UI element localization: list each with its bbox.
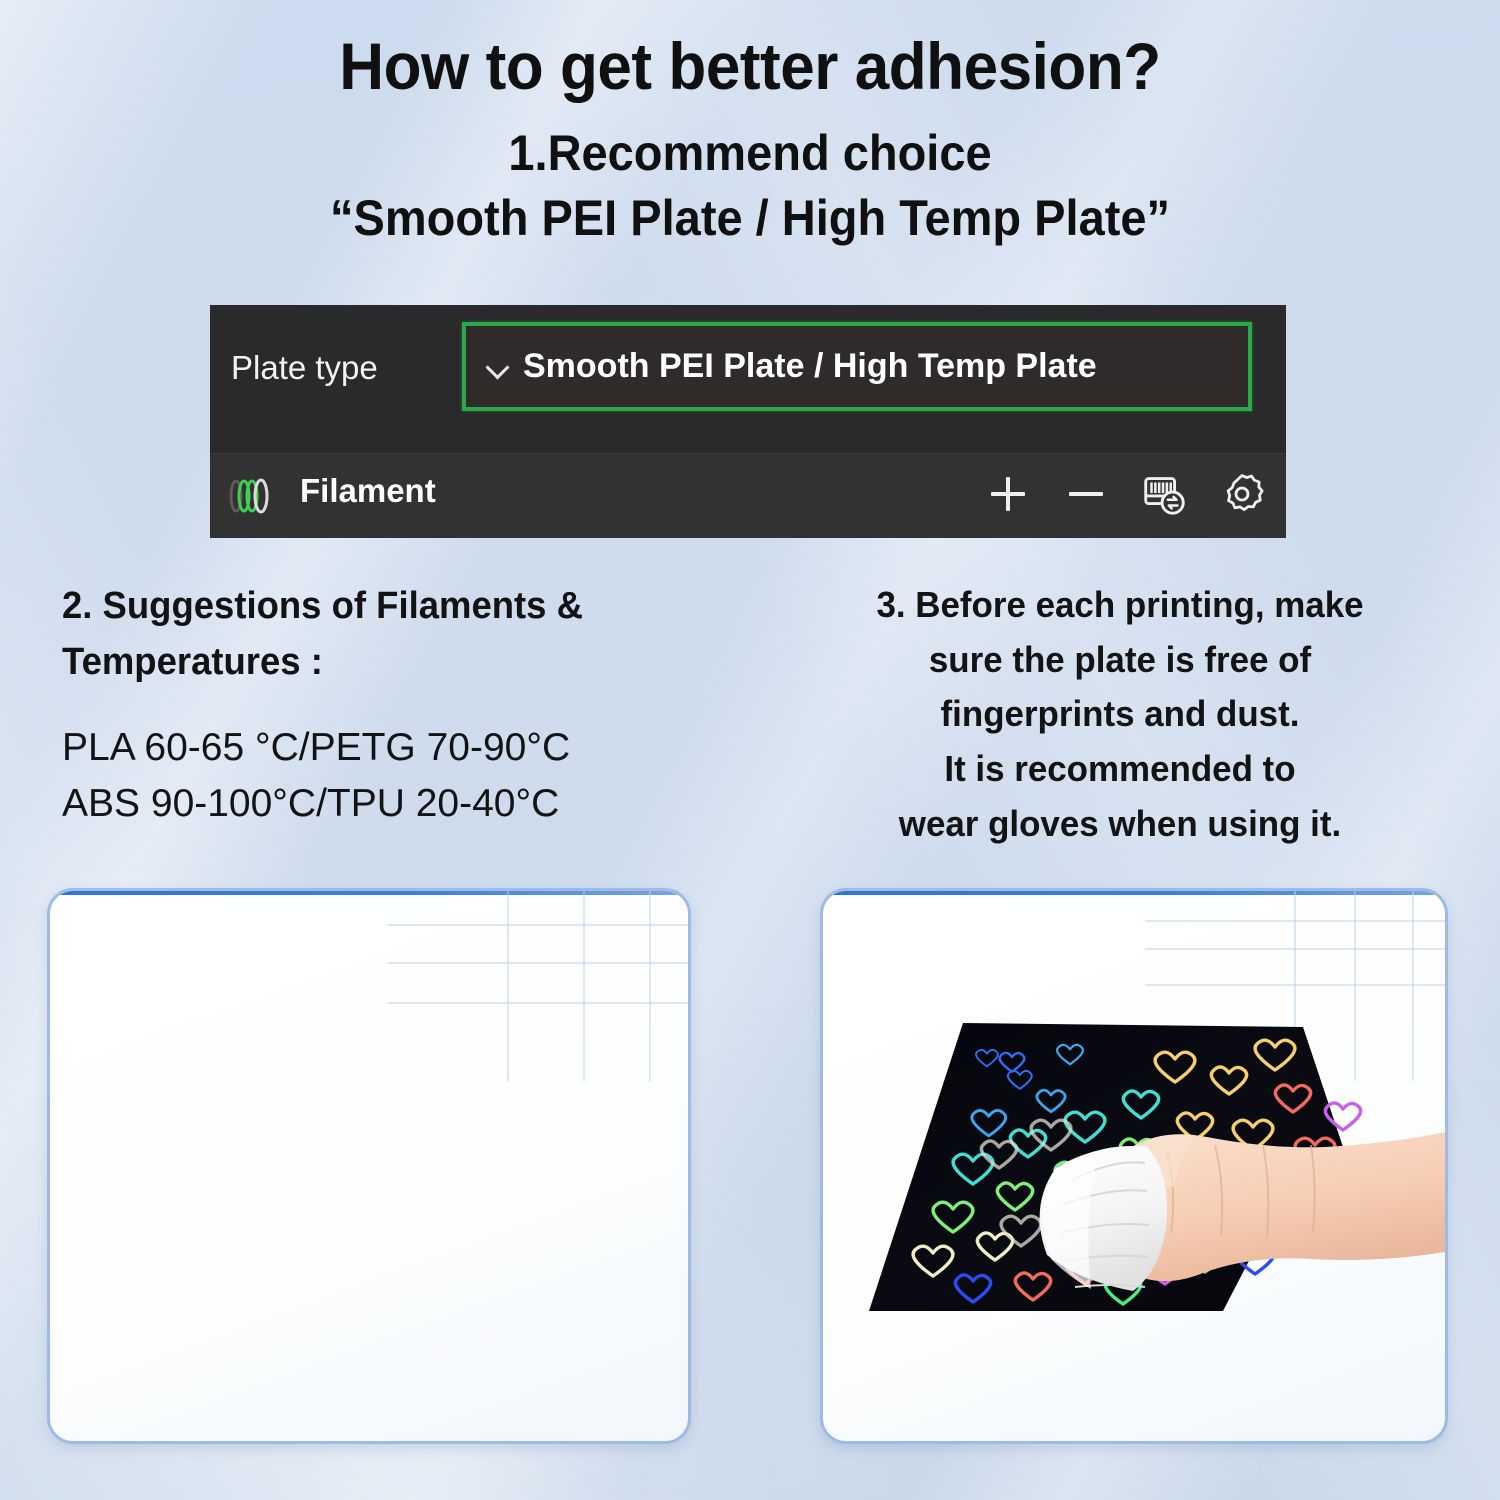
chevron-down-icon [486, 355, 510, 379]
headings-block: How to get better adhesion? 1.Recommend … [0, 0, 1500, 244]
section-3-block: 3. Before each printing, make sure the p… [785, 578, 1454, 852]
plate-type-select[interactable]: Smooth PEI Plate / High Temp Plate [462, 322, 1252, 411]
step-1-recommendation: “Smooth PEI Plate / High Temp Plate” [45, 192, 1455, 245]
filament-actions [982, 468, 1268, 520]
plate-type-label: Plate type [231, 349, 378, 387]
section-3-line-4: It is recommended to [785, 742, 1454, 797]
temperature-line-2: ABS 90-100°C/TPU 20-40°C [62, 776, 722, 831]
temperature-line-1: PLA 60-65 °C/PETG 70-90°C [62, 720, 722, 775]
poster-root: How to get better adhesion? 1.Recommend … [0, 0, 1500, 1500]
filament-label: Filament [300, 472, 436, 510]
filament-sync-icon[interactable] [1138, 468, 1190, 520]
plate-cleaning-photo-card [820, 888, 1448, 1444]
grid-decoration [388, 891, 688, 1081]
gear-icon[interactable] [1216, 468, 1268, 520]
slicer-panel: Plate type Smooth PEI Plate / High Temp … [210, 305, 1286, 538]
section-2-block: 2. Suggestions of Filaments & Temperatur… [62, 578, 722, 831]
section-3-line-5: wear gloves when using it. [785, 797, 1454, 852]
section-2-body: PLA 60-65 °C/PETG 70-90°C ABS 90-100°C/T… [62, 720, 722, 831]
section-3-line-2: sure the plate is free of [785, 633, 1454, 688]
plate-type-value: Smooth PEI Plate / High Temp Plate [523, 347, 1097, 386]
section-3-line-1: 3. Before each printing, make [785, 578, 1454, 633]
page-title: How to get better adhesion? [45, 32, 1455, 101]
section-3-line-3: fingerprints and dust. [785, 687, 1454, 742]
step-1-heading: 1.Recommend choice [45, 127, 1455, 180]
minus-icon[interactable] [1060, 468, 1112, 520]
plate-type-row: Plate type Smooth PEI Plate / High Temp … [210, 305, 1286, 453]
plus-icon[interactable] [982, 468, 1034, 520]
filament-spool-icon [228, 476, 272, 516]
section-2-title: 2. Suggestions of Filaments & Temperatur… [62, 578, 696, 690]
filament-samples-photo-card: PETG ABS PLA TPU [47, 888, 691, 1444]
filament-row: Filament [210, 453, 1286, 538]
build-plate-cleaning-illustration [823, 931, 1448, 1401]
